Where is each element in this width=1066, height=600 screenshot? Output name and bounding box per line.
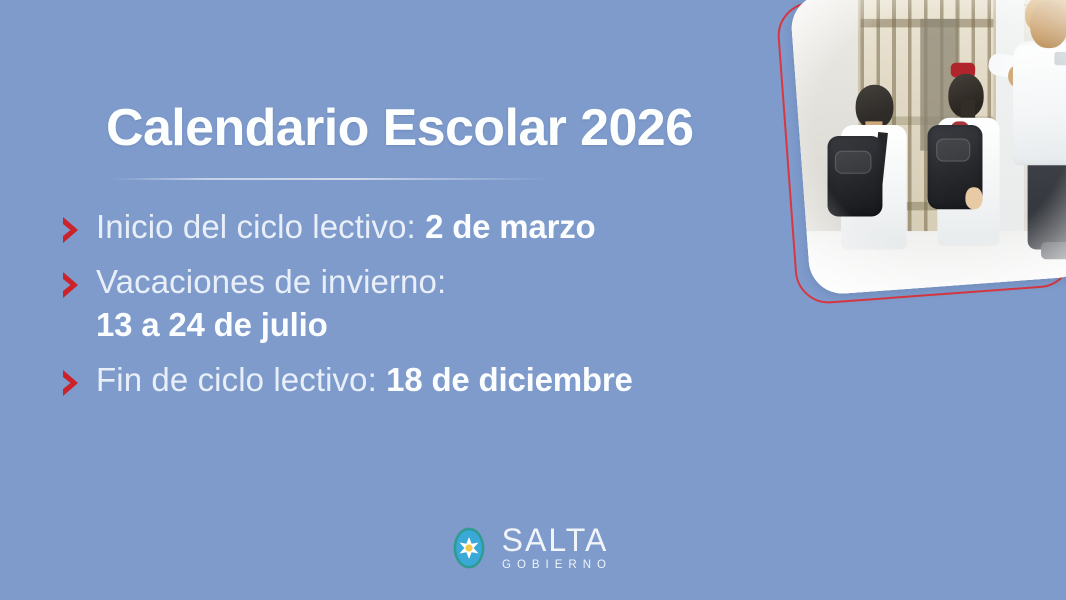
salta-sun-emblem-icon [452, 526, 486, 570]
content-column: Calendario Escolar 2026 Inicio del ciclo… [0, 0, 790, 600]
chevron-right-icon [60, 206, 96, 245]
photo-teacher-badge [1055, 52, 1066, 65]
list-item-text: Fin de ciclo lectivo: 18 de diciembre [96, 359, 790, 402]
list-item-label: Fin de ciclo lectivo: [96, 361, 377, 398]
photo-girl-hand [965, 187, 982, 209]
photo-teacher-head [1030, 1, 1066, 49]
list-item: Inicio del ciclo lectivo: 2 de marzo [60, 206, 790, 249]
logo-primary-text: SALTA [502, 524, 609, 556]
logo-secondary-text: GOBIERNO [502, 560, 612, 572]
school-photo-scene [789, 0, 1066, 296]
list-item: Vacaciones de invierno:13 a 24 de julio [60, 261, 790, 347]
photo-card-zone [778, 0, 1066, 322]
list-item-text: Inicio del ciclo lectivo: 2 de marzo [96, 206, 790, 249]
list-item-value: 18 de diciembre [386, 361, 632, 398]
list-item-label: Vacaciones de invierno: [96, 263, 446, 300]
photo-teacher-shoe [1041, 242, 1066, 258]
salta-gobierno-logo: SALTA GOBIERNO [452, 524, 612, 572]
list-item-label: Inicio del ciclo lectivo: [96, 208, 416, 245]
calendar-item-list: Inicio del ciclo lectivo: 2 de marzo Vac… [60, 206, 790, 414]
logo-wordmark: SALTA GOBIERNO [498, 524, 612, 572]
school-photo [789, 0, 1066, 296]
photo-boy-backpack [827, 136, 882, 217]
list-item-text: Vacaciones de invierno:13 a 24 de julio [96, 261, 790, 347]
photo-teacher-pants [1027, 154, 1066, 249]
list-item: Fin de ciclo lectivo: 18 de diciembre [60, 359, 790, 402]
chevron-right-icon [60, 359, 96, 398]
poster-canvas: Calendario Escolar 2026 Inicio del ciclo… [0, 0, 1066, 600]
title-divider [110, 178, 550, 180]
list-item-value: 13 a 24 de julio [96, 304, 790, 347]
page-title: Calendario Escolar 2026 [106, 98, 693, 158]
chevron-right-icon [60, 261, 96, 300]
list-item-value: 2 de marzo [425, 208, 595, 245]
